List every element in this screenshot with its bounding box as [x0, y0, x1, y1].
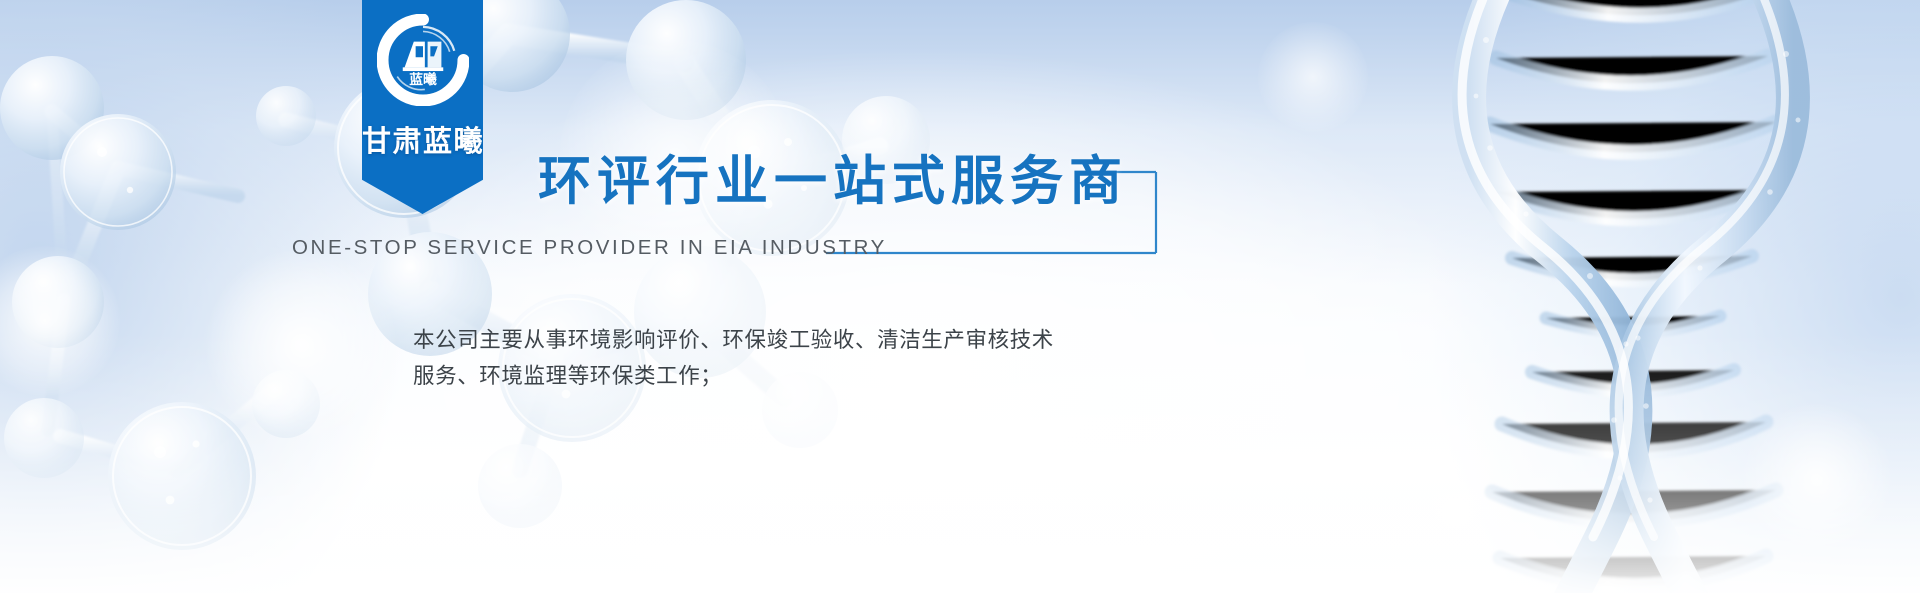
bokeh-glow [1742, 404, 1892, 554]
page-subtitle-en: ONE-STOP SERVICE PROVIDER IN EIA INDUSTR… [292, 236, 887, 260]
page-title: 环评行业一站式服务商 [538, 139, 1128, 215]
body-copy-line-2: 服务、环境监理等环保类工作； [413, 359, 1193, 395]
molecule-illustration [0, 0, 1920, 593]
body-copy: 本公司主要从事环境影响评价、环保竣工验收、清洁生产审核技术 服务、环境监理等环保… [413, 323, 1193, 395]
bokeh-glow [1258, 22, 1368, 132]
logo-inner-text: 蓝曦 [409, 71, 437, 88]
company-logo: 蓝曦 [377, 14, 469, 106]
body-copy-line-1: 本公司主要从事环境影响评价、环保竣工验收、清洁生产审核技术 [413, 323, 1193, 359]
background-wash-left [0, 0, 1920, 593]
background-wash-top [0, 0, 1920, 593]
background-wash-right [0, 0, 1920, 593]
bokeh-glow [206, 250, 396, 440]
dna-helix-illustration [1300, 0, 1920, 593]
background-wash-bottom [0, 0, 1920, 593]
hero-banner: 蓝曦 甘肃蓝曦 环评行业一站式服务商 ONE-STOP SERVICE PROV… [0, 0, 1920, 593]
company-badge: 蓝曦 甘肃蓝曦 [362, 0, 483, 214]
bokeh-glow [0, 246, 120, 396]
bokeh-glow [1396, 452, 1516, 572]
badge-company-name: 甘肃蓝曦 [362, 118, 483, 160]
background-wash-center [0, 0, 1920, 593]
